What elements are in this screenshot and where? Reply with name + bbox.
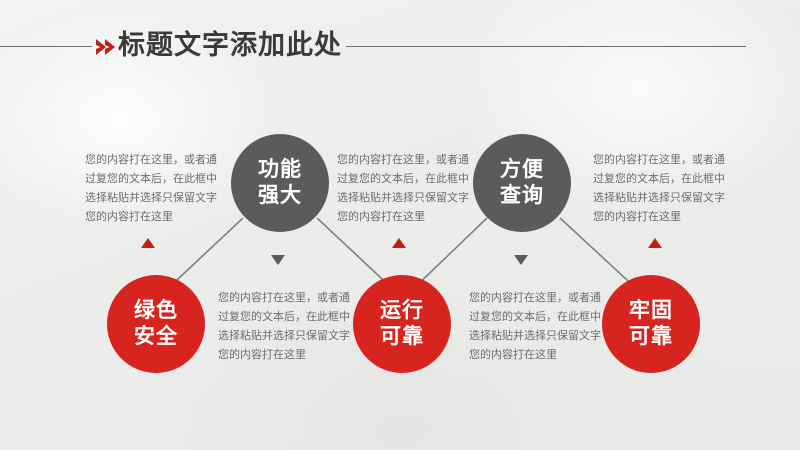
blurb-4: 您的内容打在这里，或者通过复您的文本后，在此框中选择粘贴并选择只保留文字您的内容…: [218, 289, 350, 365]
marker-triangle-gray-2: [514, 255, 528, 265]
node-red-2-line1: 运行: [380, 298, 424, 324]
node-red-3[interactable]: 牢固 可靠: [602, 275, 700, 373]
marker-triangle-red-2: [392, 238, 406, 248]
marker-triangle-red-3: [648, 238, 662, 248]
node-red-1-line2: 安全: [134, 324, 178, 350]
node-red-1-line1: 绿色: [134, 298, 178, 324]
node-gray-2-line1: 方便: [500, 157, 544, 183]
blurb-2: 您的内容打在这里，或者通过复您的文本后，在此框中选择粘贴并选择只保留文字您的内容…: [337, 151, 469, 227]
node-gray-2[interactable]: 方便 查询: [473, 134, 571, 232]
node-red-3-line2: 可靠: [629, 324, 673, 350]
node-gray-1-line1: 功能: [258, 157, 302, 183]
marker-triangle-red-1: [141, 238, 155, 248]
node-red-2-line2: 可靠: [380, 324, 424, 350]
blurb-3: 您的内容打在这里，或者通过复您的文本后，在此框中选择粘贴并选择只保留文字您的内容…: [593, 151, 725, 227]
node-red-1[interactable]: 绿色 安全: [107, 275, 205, 373]
node-red-2[interactable]: 运行 可靠: [353, 275, 451, 373]
node-gray-1[interactable]: 功能 强大: [231, 134, 329, 232]
node-red-3-line1: 牢固: [629, 298, 673, 324]
node-gray-2-line2: 查询: [500, 183, 544, 209]
blurb-5: 您的内容打在这里，或者通过复您的文本后，在此框中选择粘贴并选择只保留文字您的内容…: [469, 289, 601, 365]
node-gray-1-line2: 强大: [258, 183, 302, 209]
marker-triangle-gray-1: [271, 255, 285, 265]
blurb-1: 您的内容打在这里，或者通过复您的文本后，在此框中选择粘贴并选择只保留文字您的内容…: [85, 151, 217, 227]
slide-canvas: 标题文字添加此处 功能 强大 方便 查询 绿色 安全 运行 可靠 牢固 可靠 您…: [0, 0, 800, 450]
